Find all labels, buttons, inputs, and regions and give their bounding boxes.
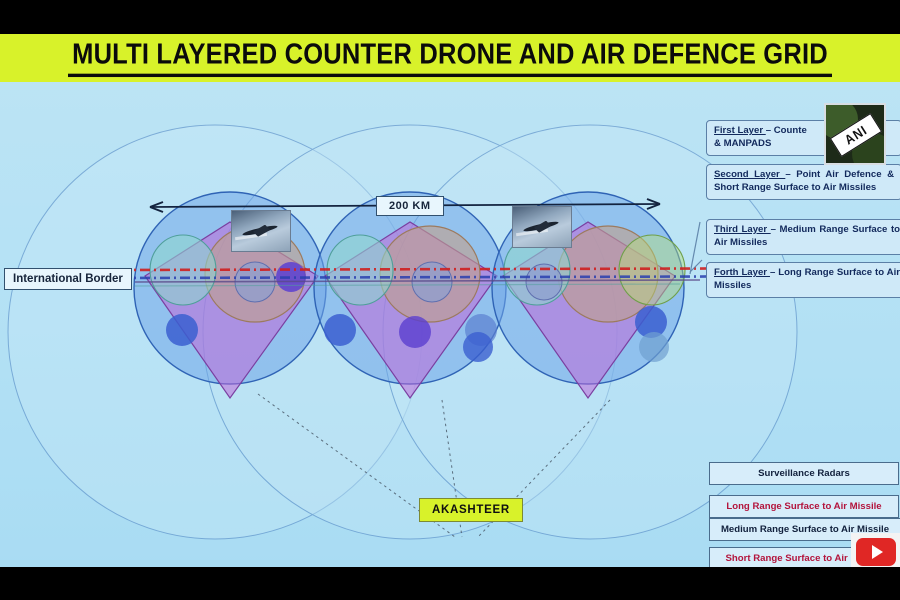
distance-label: 200 KM [376,196,444,216]
fighter-aircraft-photo [231,210,291,252]
counter-drone-dot [166,314,198,346]
youtube-subscribe-overlay[interactable]: SUBSCRIBE [851,533,900,567]
akashteer-node[interactable]: AKASHTEER [419,498,523,522]
callout-second-layer: Second Layer – Point Air Defence & Short… [706,164,900,200]
letterbox-bottom [0,567,900,600]
callout-forth-layer-label: Forth Layer [714,267,770,278]
play-icon[interactable] [856,538,896,566]
international-border-label: International Border [4,268,132,290]
legend-surveillance-radars: Surveillance Radars [709,462,899,485]
callout-third-layer-label: Third Layer [714,224,771,235]
slide-title-banner: MULTI LAYERED COUNTER DRONE AND AIR DEFE… [0,34,900,82]
callout-first-layer-text2: & MANPADS [714,138,771,149]
page-title: MULTI LAYERED COUNTER DRONE AND AIR DEFE… [68,39,832,77]
callout-first-layer-label: First Layer [714,125,766,136]
callout-third-layer: Third Layer – Medium Range Surface to Ai… [706,219,900,255]
legend-long-range-sam: Long Range Surface to Air Missile [709,495,899,518]
fighter-aircraft-photo [512,206,572,248]
letterbox-top [0,0,900,34]
manpads-dot [399,316,431,348]
point-defence-circle-edge [619,235,685,305]
counter-drone-dot [324,314,356,346]
video-frame: MULTI LAYERED COUNTER DRONE AND AIR DEFE… [0,0,900,600]
manpads-dot [463,332,493,362]
callout-first-layer-text: – Counte [766,125,807,136]
callout-forth-layer: Forth Layer – Long Range Surface to Air … [706,262,900,298]
manpads-dot [639,332,669,362]
presentation-slide: MULTI LAYERED COUNTER DRONE AND AIR DEFE… [0,34,900,567]
ani-logo-watermark: ANI [824,103,886,165]
callout-second-layer-label: Second Layer [714,169,785,180]
